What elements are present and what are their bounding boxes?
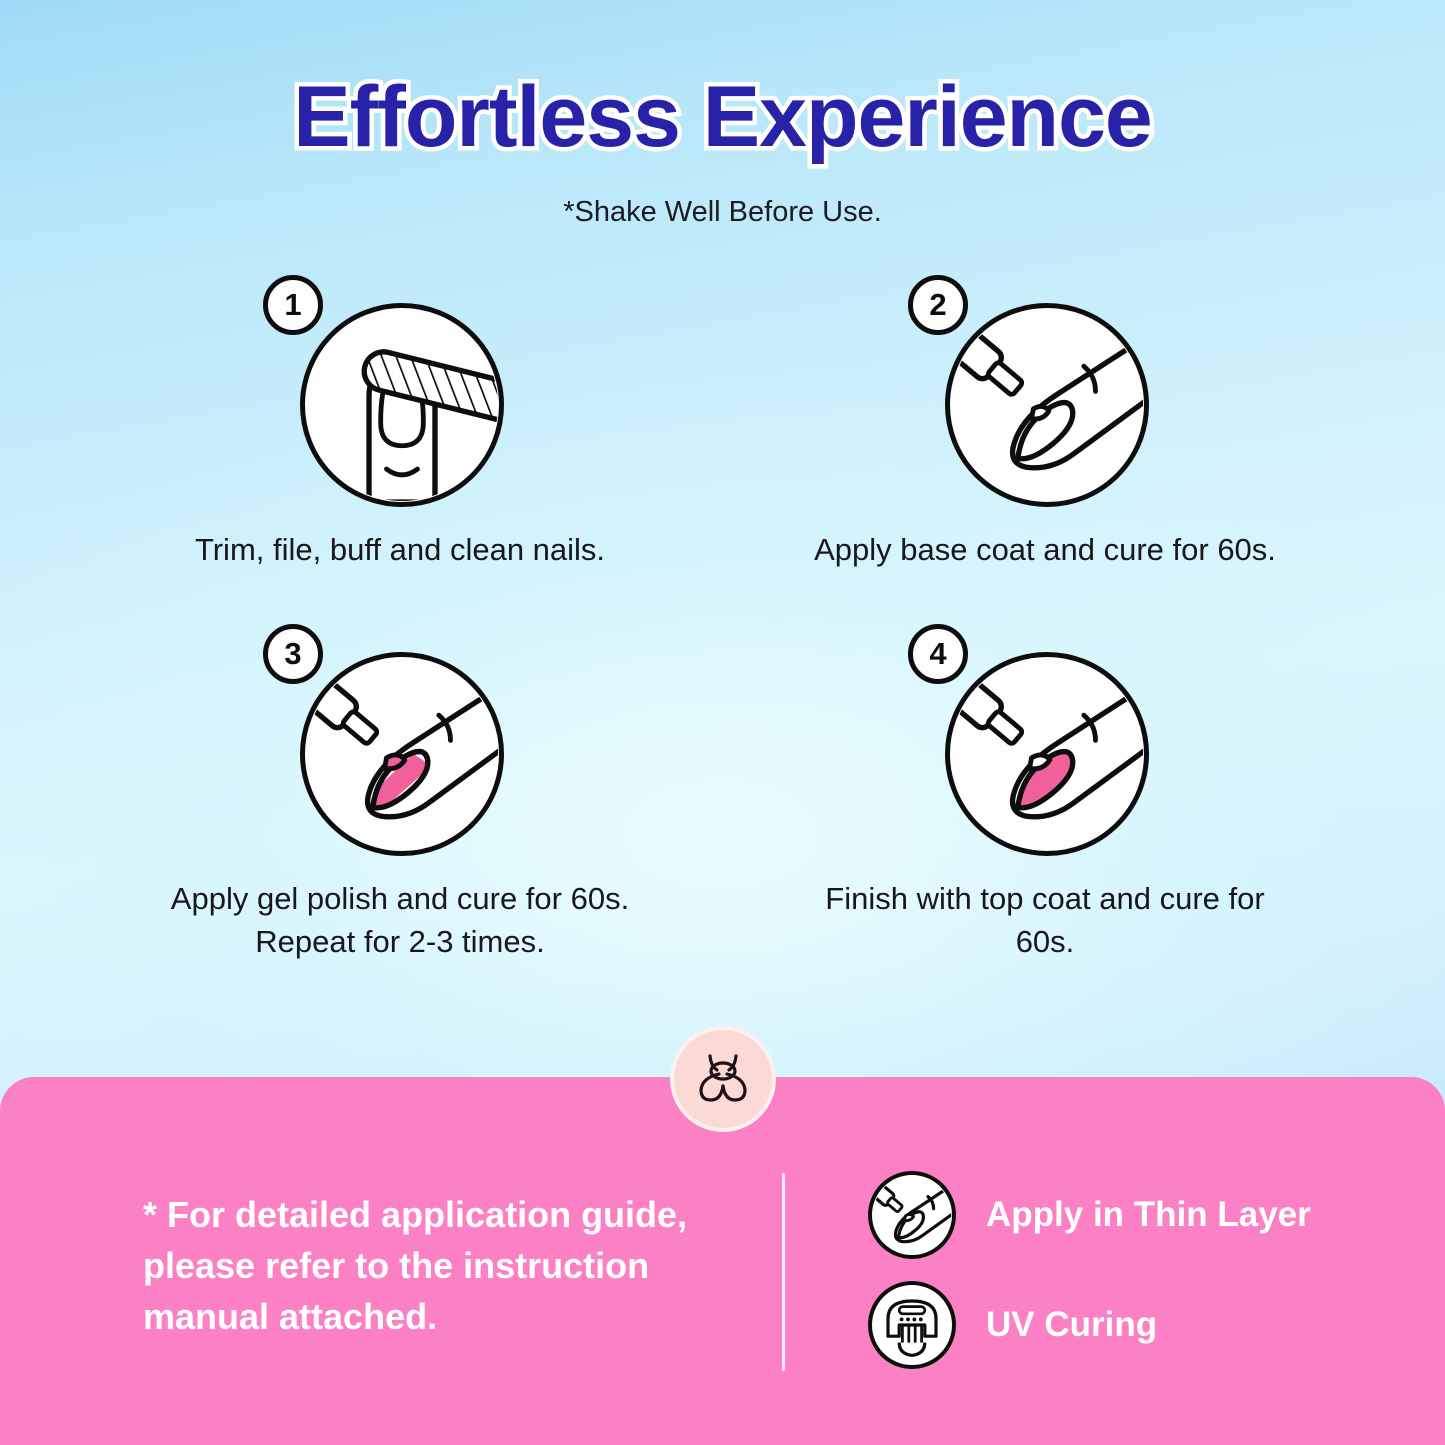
step-1-caption: Trim, file, buff and clean nails.: [165, 529, 635, 572]
step-2: 2 Apply base coat and cure for 60s.: [765, 275, 1325, 572]
step-1-number: 1: [263, 275, 323, 335]
step-4-number: 4: [908, 624, 968, 684]
page-subtitle: *Shake Well Before Use.: [0, 196, 1445, 229]
steps-row-bottom: 3 Apply gel polish and cure for 60s. Rep…: [120, 624, 1325, 964]
step-3: 3 Apply gel polish and cure for 60s. Rep…: [120, 624, 680, 964]
uv-lamp-icon: [868, 1281, 956, 1369]
footer-feature-list: Apply in Thin Layer: [868, 1171, 1311, 1369]
brush-gel-polish-icon: [300, 652, 504, 856]
feature-uv-curing: UV Curing: [868, 1281, 1311, 1369]
step-2-number: 2: [908, 275, 968, 335]
step-1-figure: 1: [255, 275, 545, 507]
brush-top-coat-icon: [945, 652, 1149, 856]
footer-divider: [782, 1173, 785, 1371]
infographic-poster: Effortless Experience *Shake Well Before…: [0, 0, 1445, 1445]
footer-panel: * For detailed application guide, please…: [0, 1077, 1445, 1445]
steps-grid: 1 Trim, file, buff and clean nails.: [120, 275, 1325, 963]
step-3-caption: Apply gel polish and cure for 60s. Repea…: [165, 878, 635, 964]
step-2-figure: 2: [900, 275, 1190, 507]
brush-base-coat-icon: [945, 303, 1149, 507]
step-3-figure: 3: [255, 624, 545, 856]
step-1: 1 Trim, file, buff and clean nails.: [120, 275, 680, 572]
step-2-caption: Apply base coat and cure for 60s.: [810, 529, 1280, 572]
page-title: Effortless Experience: [0, 72, 1445, 162]
feature-label-thin-layer: Apply in Thin Layer: [986, 1195, 1311, 1235]
footer-note: * For detailed application guide, please…: [143, 1189, 743, 1342]
brush-thin-layer-icon: [868, 1171, 956, 1259]
feature-apply-in-thin-layer: Apply in Thin Layer: [868, 1171, 1311, 1259]
step-4-caption: Finish with top coat and cure for 60s.: [810, 878, 1280, 964]
step-3-number: 3: [263, 624, 323, 684]
steps-row-top: 1 Trim, file, buff and clean nails.: [120, 275, 1325, 572]
butterfly-logo-icon: [670, 1026, 776, 1132]
nail-file-icon: [300, 303, 504, 507]
feature-label-uv-curing: UV Curing: [986, 1305, 1157, 1345]
step-4: 4 Finish with top coat and cure for 60s.: [765, 624, 1325, 964]
step-4-figure: 4: [900, 624, 1190, 856]
